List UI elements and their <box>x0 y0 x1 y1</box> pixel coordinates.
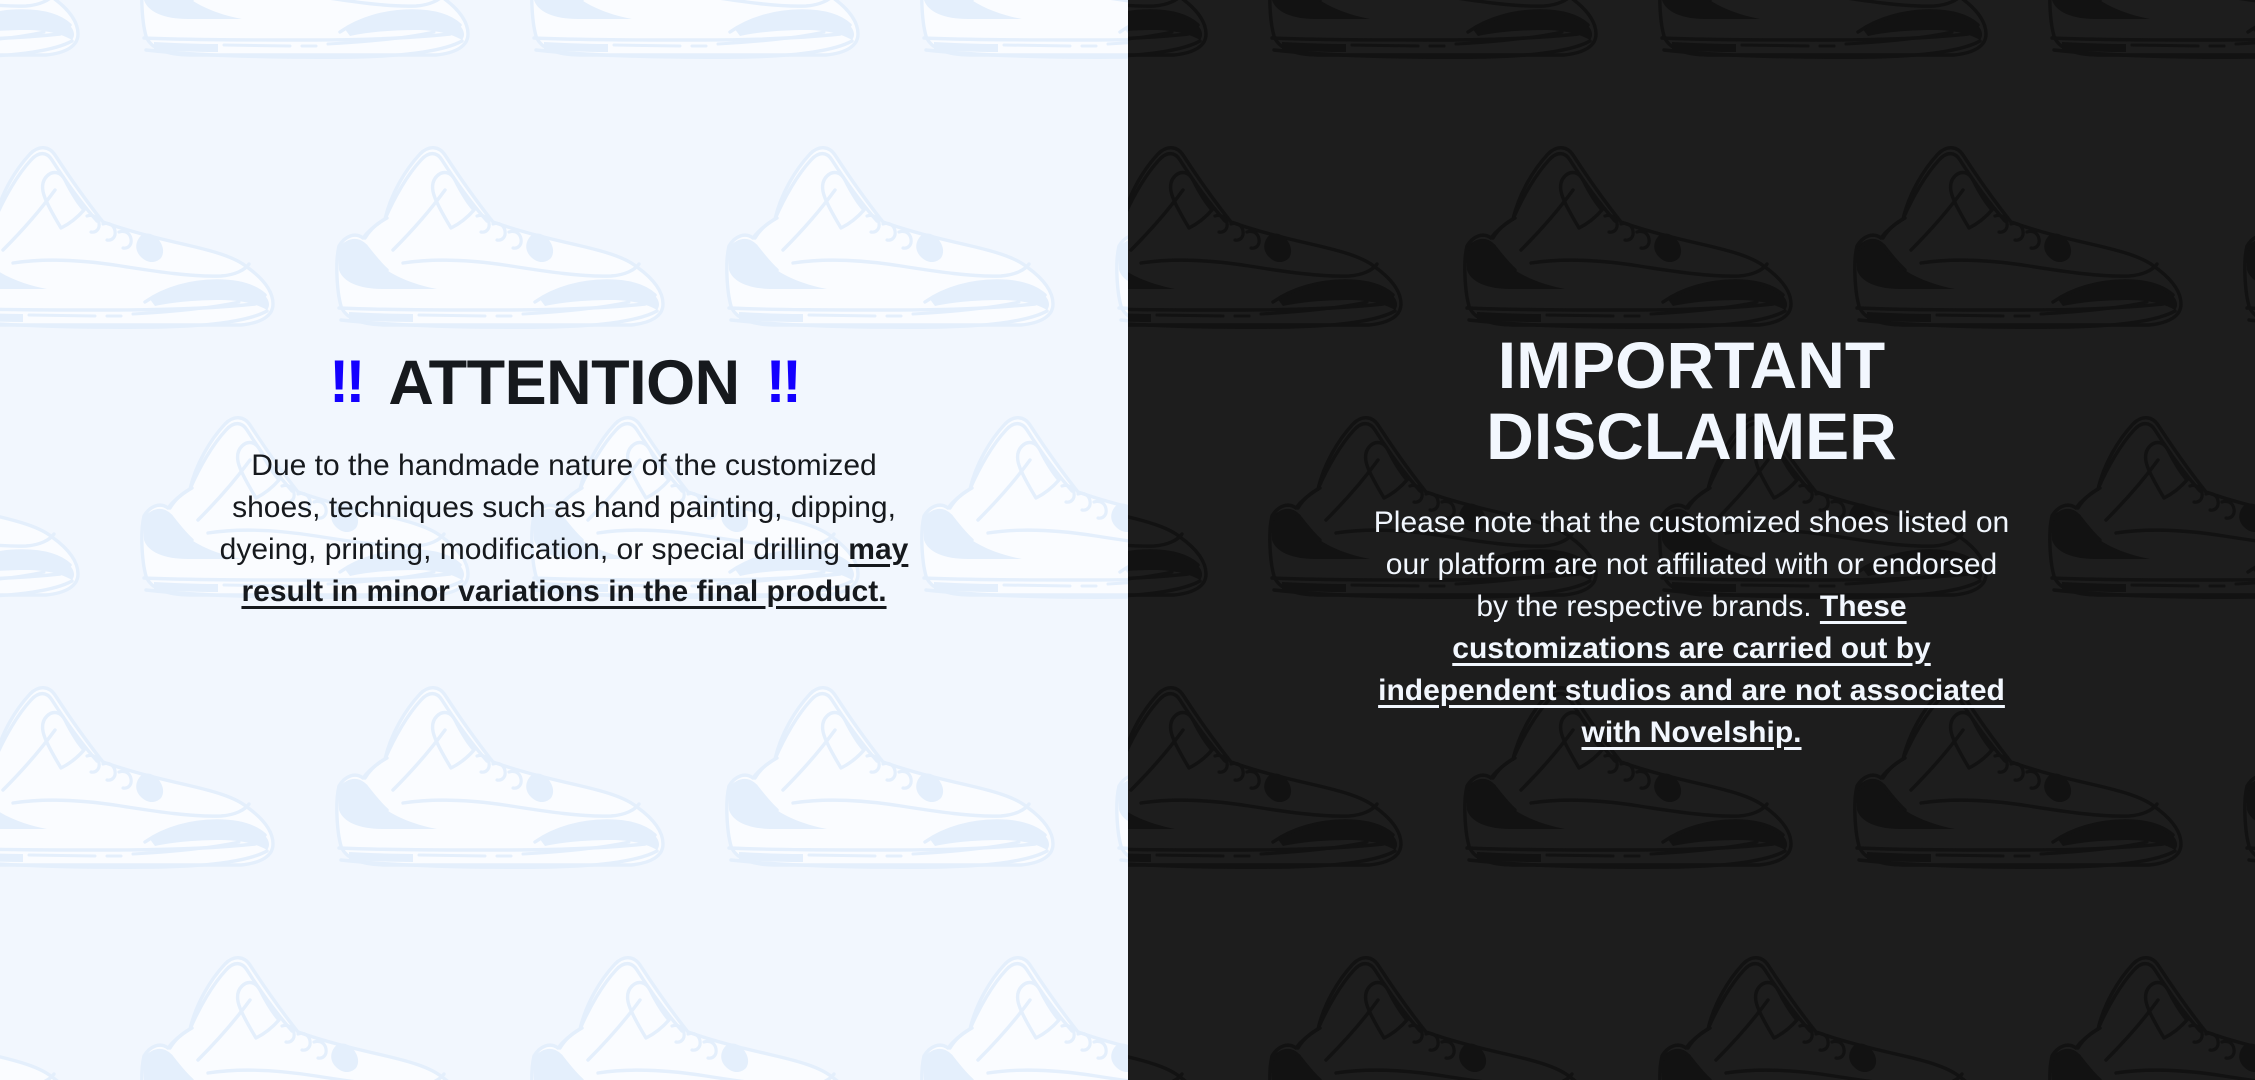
sneaker-icon <box>1128 930 1258 1080</box>
attention-body: Due to the handmade nature of the custom… <box>214 445 914 613</box>
double-exclamation-mark-icon-right: ‼ <box>766 352 799 412</box>
attention-panel: ‼ ATTENTION ‼ Due to the handmade nature… <box>0 0 1128 1080</box>
disclaimer-panel: IMPORTANT DISCLAIMER Please note that th… <box>1128 0 2255 1080</box>
attention-content: ‼ ATTENTION ‼ Due to the handmade nature… <box>0 0 1128 613</box>
sneaker-icon <box>715 660 1105 910</box>
double-exclamation-mark-icon-left: ‼ <box>329 352 362 412</box>
disclaimer-body-normal: Please note that the customized shoes li… <box>1374 506 2009 623</box>
sneaker-tile <box>2038 930 2255 1080</box>
sneaker-icon <box>1105 660 1128 910</box>
sneaker-tile <box>0 930 130 1080</box>
sneaker-tile <box>325 660 715 910</box>
disclaimer-content: IMPORTANT DISCLAIMER Please note that th… <box>1128 0 2255 754</box>
disclaimer-heading: IMPORTANT DISCLAIMER <box>1312 330 2072 473</box>
attention-body-normal: Due to the handmade nature of the custom… <box>220 449 896 566</box>
promo-banner: ‼ ATTENTION ‼ Due to the handmade nature… <box>0 0 2255 1080</box>
sneaker-icon <box>1648 930 2038 1080</box>
sneaker-icon <box>325 660 715 910</box>
sneaker-tile <box>910 930 1128 1080</box>
attention-heading-text: ATTENTION <box>388 352 739 415</box>
sneaker-icon <box>520 930 910 1080</box>
sneaker-tile <box>1128 930 1258 1080</box>
sneaker-icon <box>130 930 520 1080</box>
sneaker-icon <box>1258 930 1648 1080</box>
sneaker-icon <box>0 660 325 910</box>
sneaker-tile <box>0 660 325 910</box>
sneaker-tile <box>1105 660 1128 910</box>
sneaker-icon <box>0 930 130 1080</box>
disclaimer-body: Please note that the customized shoes li… <box>1367 502 2017 754</box>
sneaker-tile <box>1648 930 2038 1080</box>
sneaker-icon <box>910 930 1128 1080</box>
sneaker-tile <box>520 930 910 1080</box>
sneaker-tile <box>715 660 1105 910</box>
attention-heading: ‼ ATTENTION ‼ <box>329 352 799 415</box>
sneaker-icon <box>2038 930 2255 1080</box>
sneaker-tile <box>130 930 520 1080</box>
sneaker-tile <box>1258 930 1648 1080</box>
